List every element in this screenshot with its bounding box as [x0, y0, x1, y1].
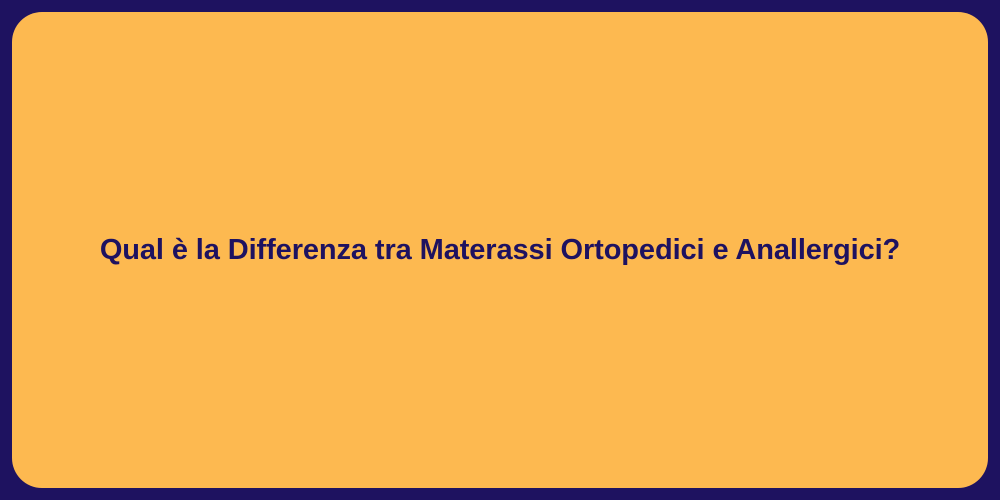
page-title: Qual è la Differenza tra Materassi Ortop… — [100, 232, 900, 268]
banner-frame: Qual è la Differenza tra Materassi Ortop… — [0, 0, 1000, 500]
banner-card: Qual è la Differenza tra Materassi Ortop… — [12, 12, 988, 488]
